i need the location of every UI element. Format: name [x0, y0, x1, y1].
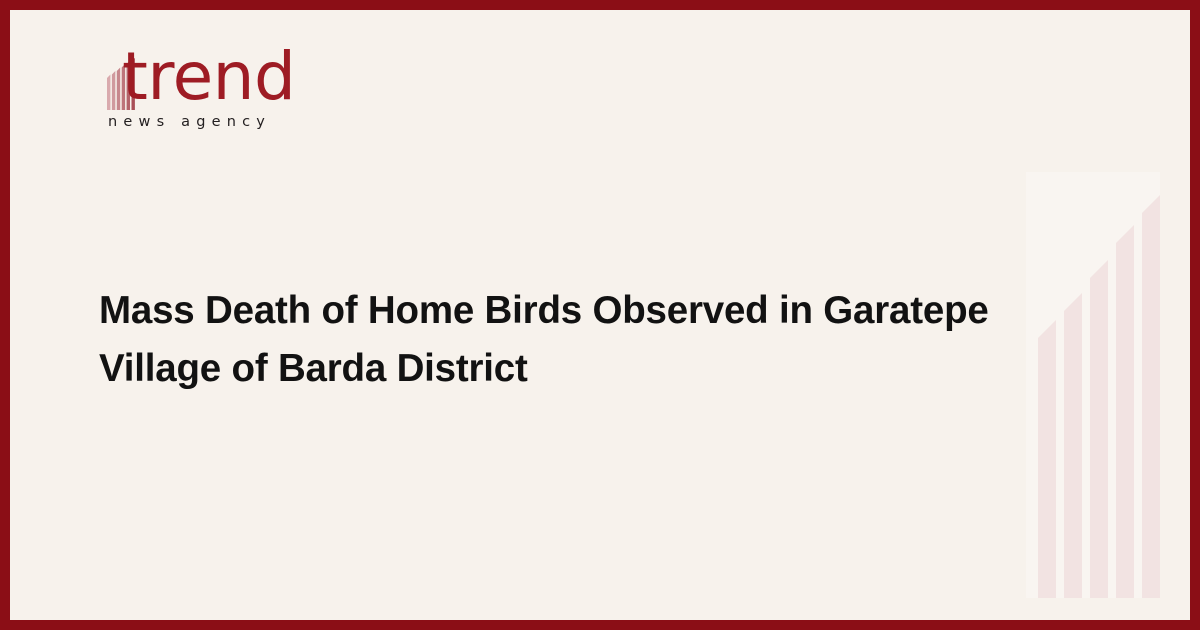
brand-wordmark: trend [122, 44, 295, 110]
article-headline: Mass Death of Home Birds Observed in Gar… [99, 282, 999, 398]
brand-tagline: news agency [108, 114, 271, 130]
social-share-card: trend news agency Mass Death of Home Bir… [0, 0, 1200, 630]
card-content-area: trend news agency Mass Death of Home Bir… [10, 10, 1190, 620]
ascending-bars-graphic [1016, 172, 1160, 598]
brand-logo[interactable]: trend news agency [98, 48, 358, 140]
bar-chart-ascending-icon [1016, 172, 1160, 598]
